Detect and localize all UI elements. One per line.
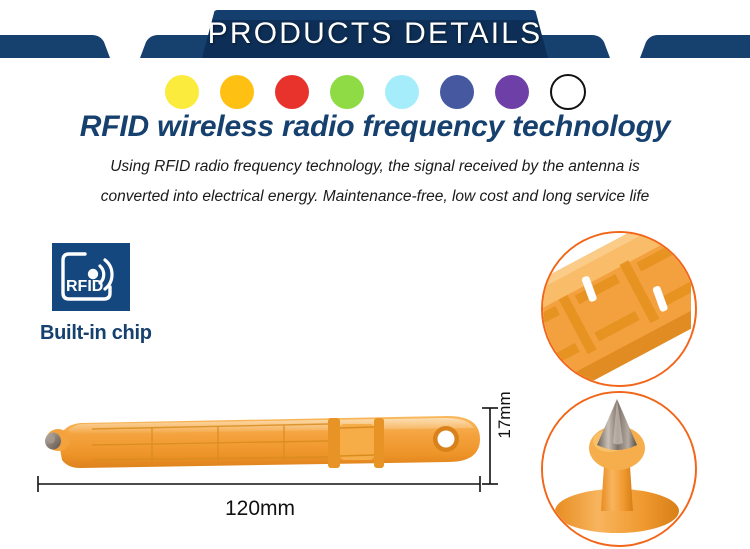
headline: RFID wireless radio frequency technology xyxy=(0,110,750,144)
color-dot-yellow[interactable] xyxy=(165,75,199,109)
color-dot-white[interactable] xyxy=(550,74,586,110)
rfid-icon: RFID xyxy=(52,243,130,311)
page-title: PRODUCTS DETAILS xyxy=(0,17,750,51)
built-in-chip-caption: Built-in chip xyxy=(40,322,240,345)
color-dot-purple[interactable] xyxy=(495,75,529,109)
dimension-label-height: 17mm xyxy=(495,380,515,450)
color-dot-light-blue[interactable] xyxy=(385,75,419,109)
dimension-label-length: 120mm xyxy=(170,497,350,521)
product-details-page: PRODUCTS DETAILS RFID wireless radio fre… xyxy=(0,0,750,549)
inset-metal-spike-closeup xyxy=(541,391,697,547)
tag-hole-inner xyxy=(438,431,455,448)
inset-tag-body-closeup xyxy=(541,231,697,387)
color-dot-amber[interactable] xyxy=(220,75,254,109)
color-swatch-row xyxy=(0,72,750,112)
header-banner: PRODUCTS DETAILS xyxy=(0,0,750,68)
rfid-chip-badge: RFID xyxy=(52,243,130,316)
color-dot-green[interactable] xyxy=(330,75,364,109)
product-photo-ear-tag xyxy=(28,398,498,498)
color-dot-red[interactable] xyxy=(275,75,309,109)
tag-metal-pin xyxy=(45,429,70,451)
color-dot-indigo[interactable] xyxy=(440,75,474,109)
description-paragraph: Using RFID radio frequency technology, t… xyxy=(95,152,655,212)
rfid-icon-label: RFID xyxy=(66,278,103,295)
